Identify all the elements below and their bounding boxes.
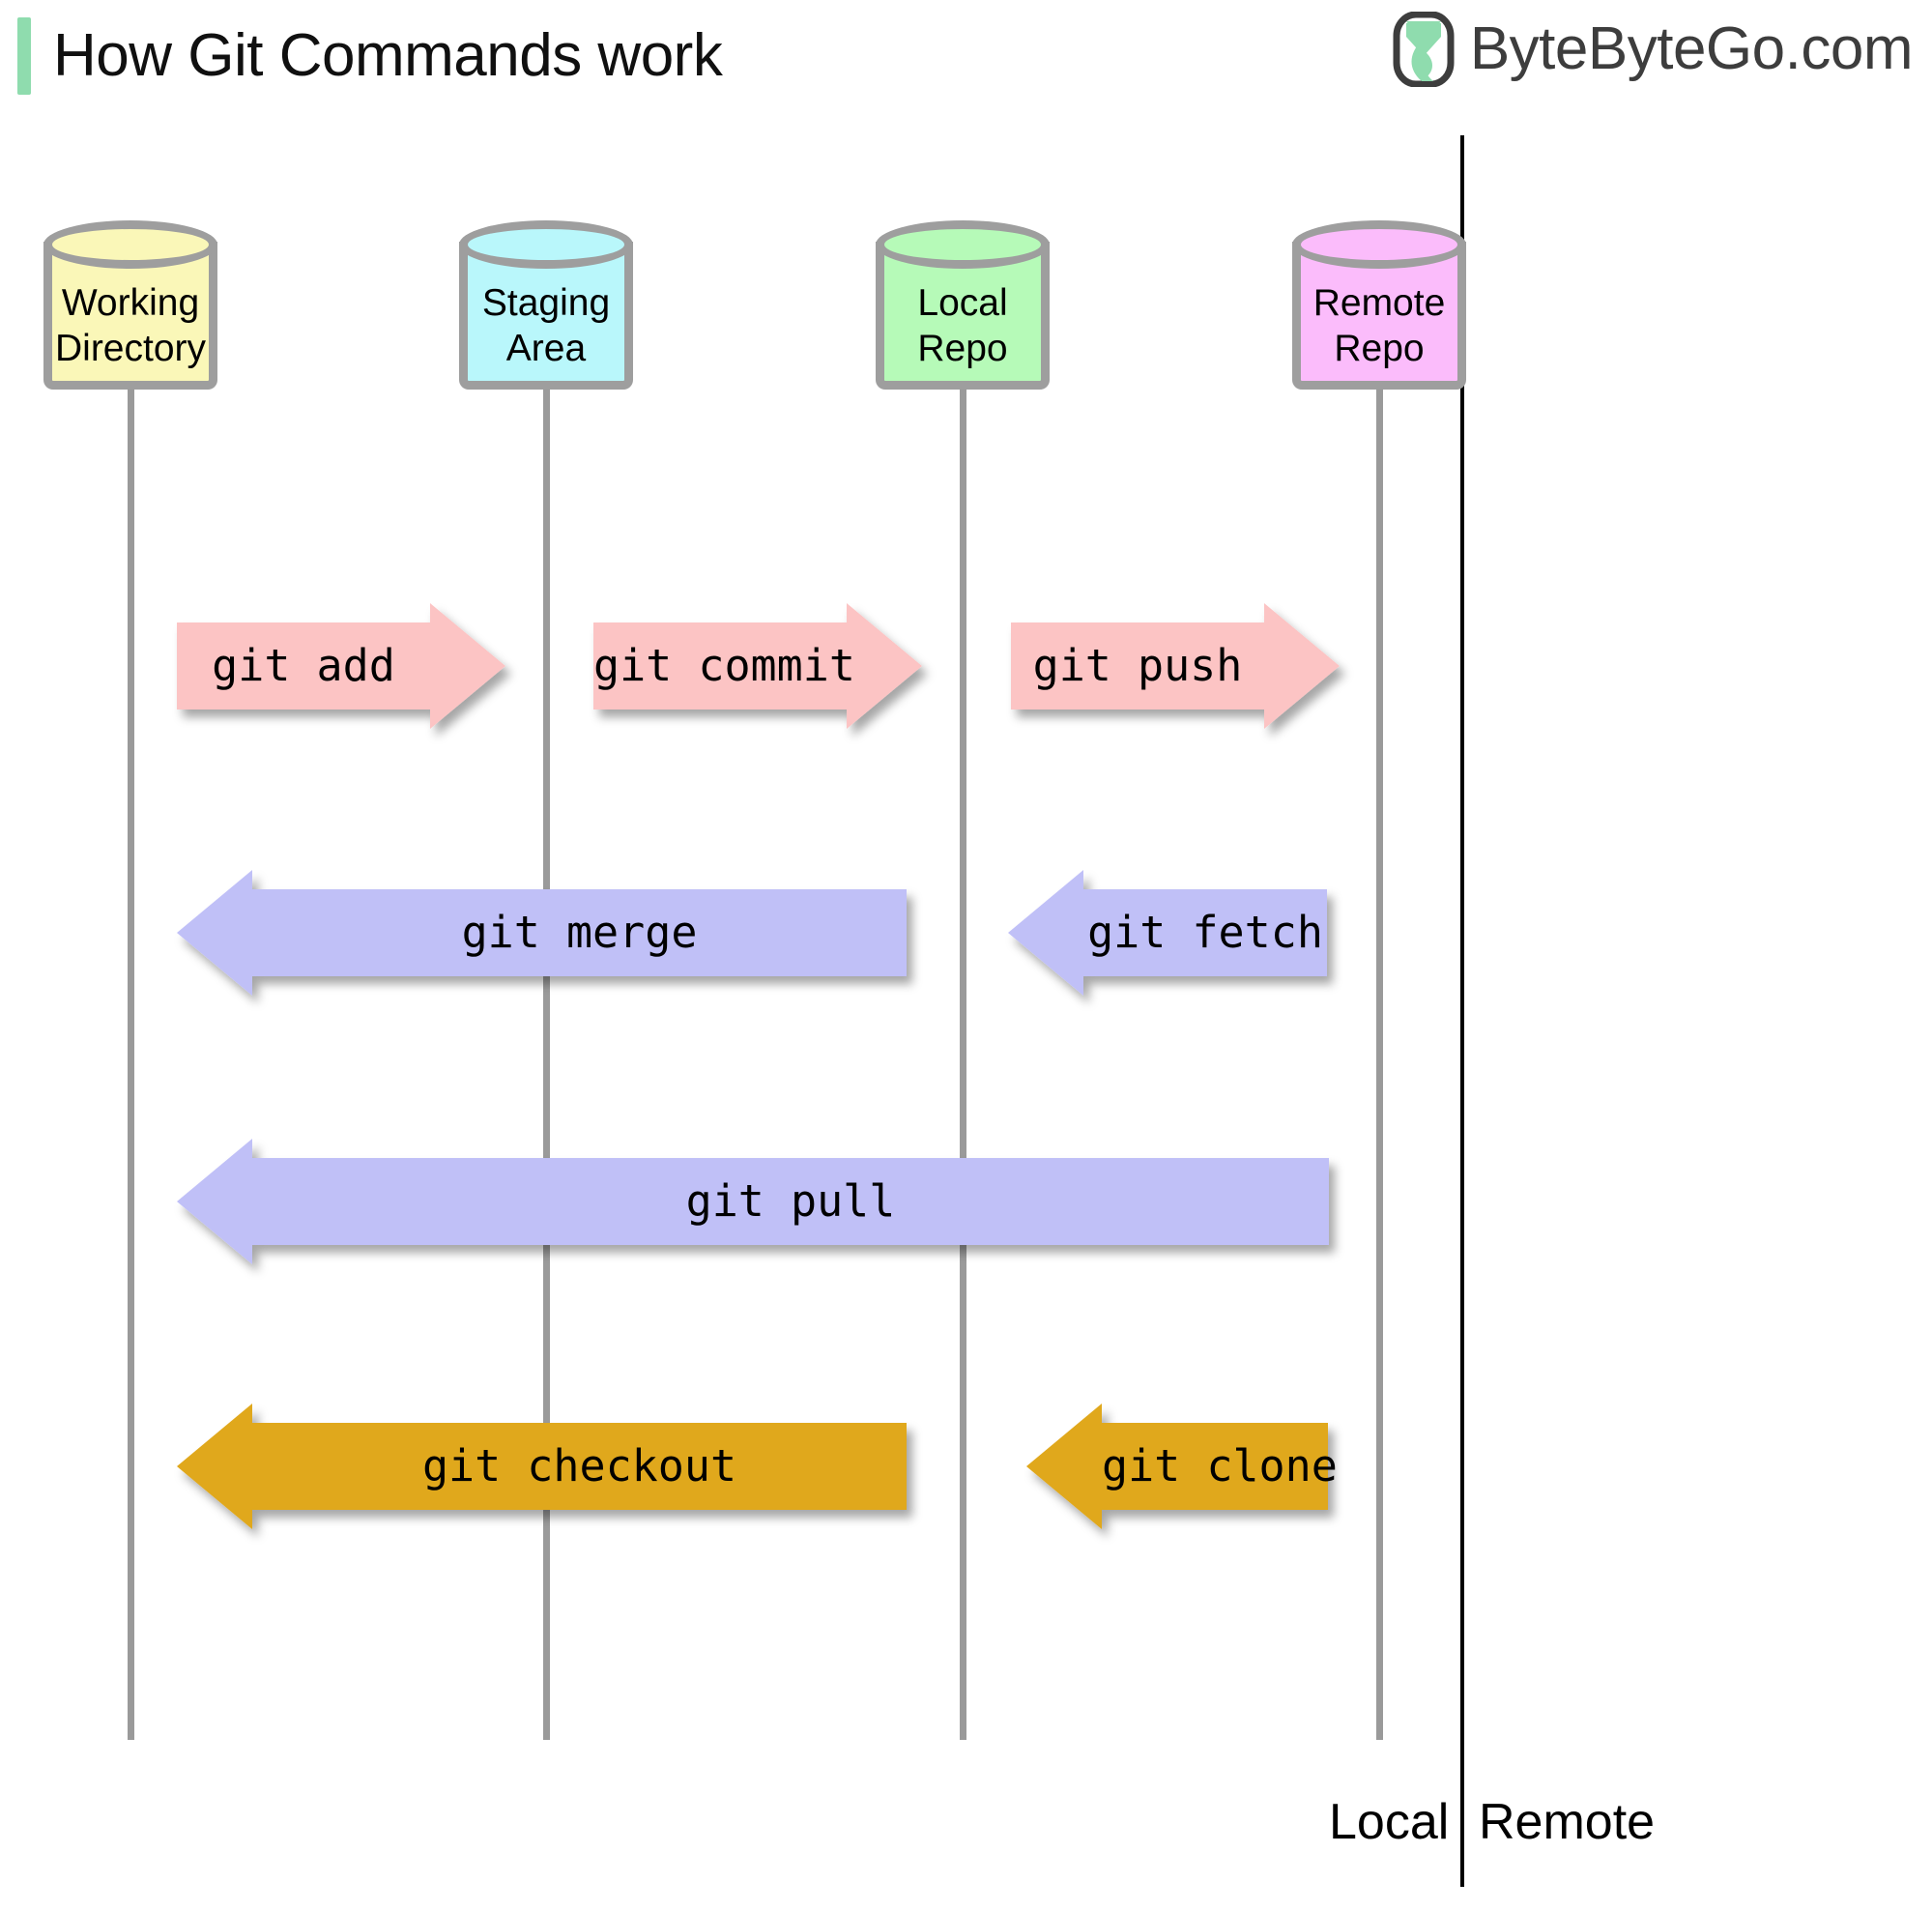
arrow-label: git merge: [252, 880, 907, 986]
arrow-git-add[interactable]: git add: [177, 603, 505, 709]
arrow-label: git fetch: [1083, 880, 1327, 986]
boundary-label-remote: Remote: [1479, 1793, 1655, 1851]
cylinder-top-ellipse: [459, 220, 633, 269]
diagram-canvas: How Git Commands work ByteByteGo.com Wor…: [0, 0, 1932, 1911]
arrow-label: git push: [1011, 613, 1264, 719]
node-staging-area[interactable]: Staging Area: [459, 220, 633, 390]
boundary-label-local: Local: [1329, 1793, 1445, 1851]
brand-logo: ByteByteGo.com: [1393, 12, 1913, 87]
local-remote-divider: [1460, 135, 1464, 1887]
lifeline-staging-area: [543, 385, 550, 1740]
node-label: Remote Repo: [1292, 280, 1466, 371]
arrow-label: git add: [177, 613, 430, 719]
lifeline-remote-repo: [1376, 385, 1383, 1740]
cylinder-top-ellipse: [876, 220, 1050, 269]
page-header: How Git Commands work ByteByteGo.com: [0, 0, 1932, 116]
arrow-git-clone[interactable]: git clone: [1026, 1404, 1328, 1510]
node-label: Staging Area: [459, 280, 633, 371]
arrow-label: git commit: [593, 613, 847, 719]
lifeline-working-directory: [128, 385, 134, 1740]
cylinder-top-ellipse: [1292, 220, 1466, 269]
arrow-git-merge[interactable]: git merge: [177, 870, 907, 976]
arrow-label: git pull: [252, 1148, 1329, 1255]
arrow-label: git clone: [1102, 1413, 1328, 1520]
bytebytego-logo-icon: [1393, 12, 1455, 87]
arrow-git-checkout[interactable]: git checkout: [177, 1404, 907, 1510]
arrow-label: git checkout: [252, 1413, 907, 1520]
node-label: Working Directory: [43, 280, 217, 371]
node-label: Local Repo: [876, 280, 1050, 371]
page-title: How Git Commands work: [53, 17, 722, 95]
brand-name: ByteByteGo.com: [1470, 12, 1913, 87]
arrow-git-commit[interactable]: git commit: [593, 603, 922, 709]
node-remote-repo[interactable]: Remote Repo: [1292, 220, 1466, 390]
arrow-git-pull[interactable]: git pull: [177, 1139, 1329, 1245]
arrow-git-push[interactable]: git push: [1011, 603, 1340, 709]
cylinder-top-ellipse: [43, 220, 217, 269]
title-accent-bar: [17, 17, 31, 95]
node-working-directory[interactable]: Working Directory: [43, 220, 217, 390]
lifeline-local-repo: [960, 385, 966, 1740]
node-local-repo[interactable]: Local Repo: [876, 220, 1050, 390]
arrow-git-fetch[interactable]: git fetch: [1008, 870, 1327, 976]
